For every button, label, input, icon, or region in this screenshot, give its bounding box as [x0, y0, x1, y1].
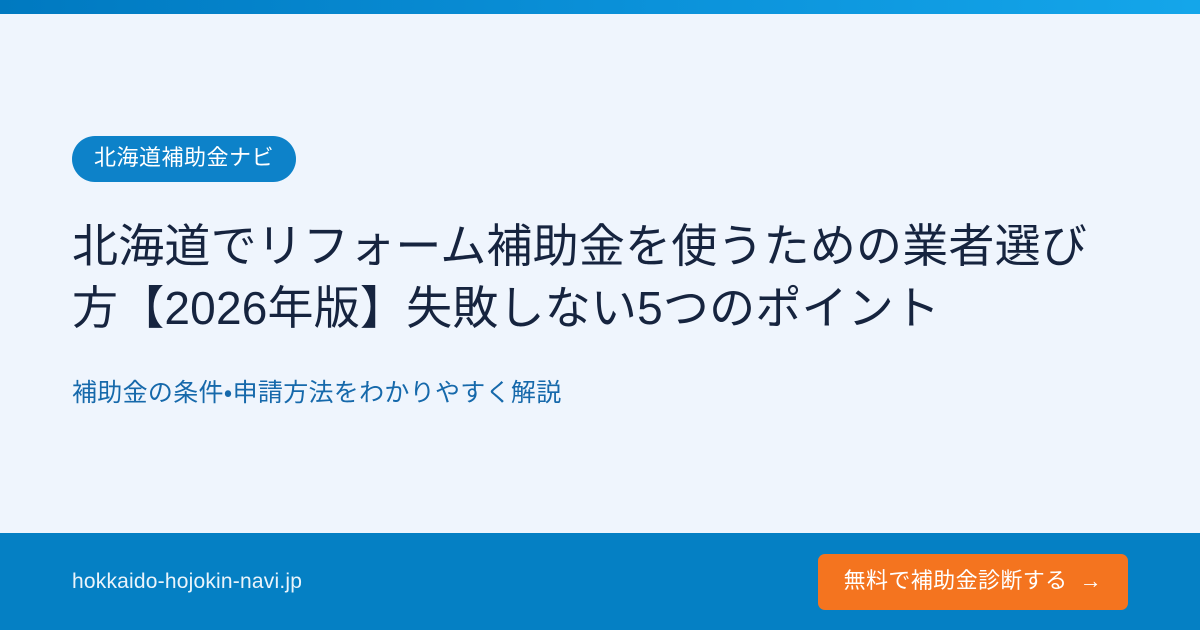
footer-bar: hokkaido-hojokin-navi.jp 無料で補助金診断する → [0, 533, 1200, 630]
page-title: 北海道でリフォーム補助金を使うための業者選び方【2026年版】失敗しない5つのポ… [72, 216, 1128, 339]
site-url-label: hokkaido-hojokin-navi.jp [72, 570, 302, 594]
ogp-card: 北海道補助金ナビ 北海道でリフォーム補助金を使うための業者選び方【2026年版】… [0, 0, 1200, 630]
card-content: 北海道補助金ナビ 北海道でリフォーム補助金を使うための業者選び方【2026年版】… [0, 14, 1200, 533]
free-diagnosis-cta-button[interactable]: 無料で補助金診断する → [818, 554, 1128, 610]
arrow-right-icon: → [1080, 570, 1102, 592]
page-subtitle: 補助金の条件・申請方法をわかりやすく解説 [72, 376, 1128, 411]
top-accent-bar [0, 0, 1200, 14]
cta-label: 無料で補助金診断する [844, 570, 1068, 592]
site-badge: 北海道補助金ナビ [72, 136, 296, 182]
